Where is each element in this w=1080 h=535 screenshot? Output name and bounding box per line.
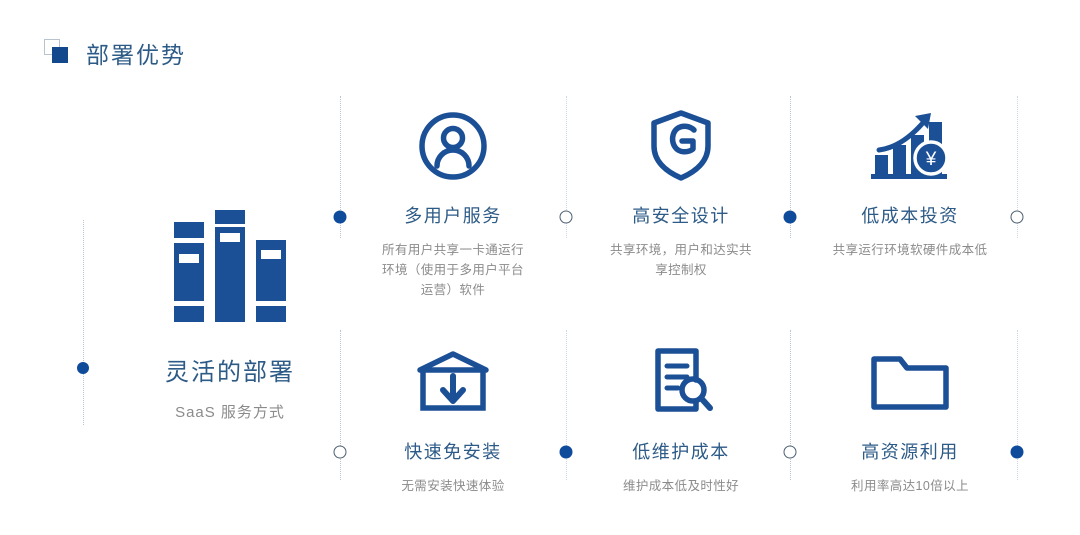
folder-icon	[805, 340, 1015, 424]
feature-card-multi-user[interactable]: 多用户服务 所有用户共享一卡通运行环境（使用于多用户平台运营）软件	[348, 104, 558, 300]
node-col2-top	[560, 211, 573, 224]
download-box-icon	[348, 340, 558, 424]
growth-chart-yen-icon: ¥	[805, 104, 1015, 188]
left-feature-subtitle: SaaS 服务方式	[120, 401, 340, 422]
feature-card-desc: 共享运行环境软硬件成本低	[805, 240, 1015, 260]
user-circle-icon	[348, 104, 558, 188]
page-header: 部署优势	[44, 36, 186, 70]
server-bars-icon	[120, 205, 340, 330]
feature-card-low-cost[interactable]: ¥ 低成本投资 共享运行环境软硬件成本低	[805, 104, 1015, 260]
feature-card-no-install[interactable]: 快速免安装 无需安装快速体验	[348, 340, 558, 496]
document-search-icon	[576, 340, 786, 424]
divider-left	[83, 220, 85, 425]
node-col2-bottom	[560, 446, 573, 459]
feature-card-title: 低维护成本	[576, 438, 786, 464]
shield-g-icon	[576, 104, 786, 188]
feature-card-low-maintenance[interactable]: 低维护成本 维护成本低及时性好	[576, 340, 786, 496]
feature-card-title: 多用户服务	[348, 202, 558, 228]
feature-card-desc: 所有用户共享一卡通运行环境（使用于多用户平台运营）软件	[348, 240, 558, 300]
square-filled-shape	[52, 47, 68, 63]
feature-card-title: 高安全设计	[576, 202, 786, 228]
feature-card-desc: 无需安装快速体验	[348, 476, 558, 496]
feature-card-title: 低成本投资	[805, 202, 1015, 228]
feature-card-desc: 共享环境，用户和达实共享控制权	[576, 240, 786, 280]
svg-text:¥: ¥	[925, 149, 937, 170]
node-left	[77, 362, 89, 374]
left-feature-title: 灵活的部署	[120, 352, 340, 387]
feature-card-title: 高资源利用	[805, 438, 1015, 464]
feature-card-desc: 维护成本低及时性好	[576, 476, 786, 496]
feature-card-title: 快速免安装	[348, 438, 558, 464]
feature-card-security[interactable]: 高安全设计 共享环境，用户和达实共享控制权	[576, 104, 786, 280]
feature-card-desc: 利用率高达10倍以上	[805, 476, 1015, 496]
node-col1-bottom	[334, 446, 347, 459]
page-title: 部署优势	[86, 36, 186, 70]
feature-card-resource-usage[interactable]: 高资源利用 利用率高达10倍以上	[805, 340, 1015, 496]
double-square-icon	[44, 39, 72, 67]
left-feature-block: 灵活的部署 SaaS 服务方式	[120, 205, 340, 422]
